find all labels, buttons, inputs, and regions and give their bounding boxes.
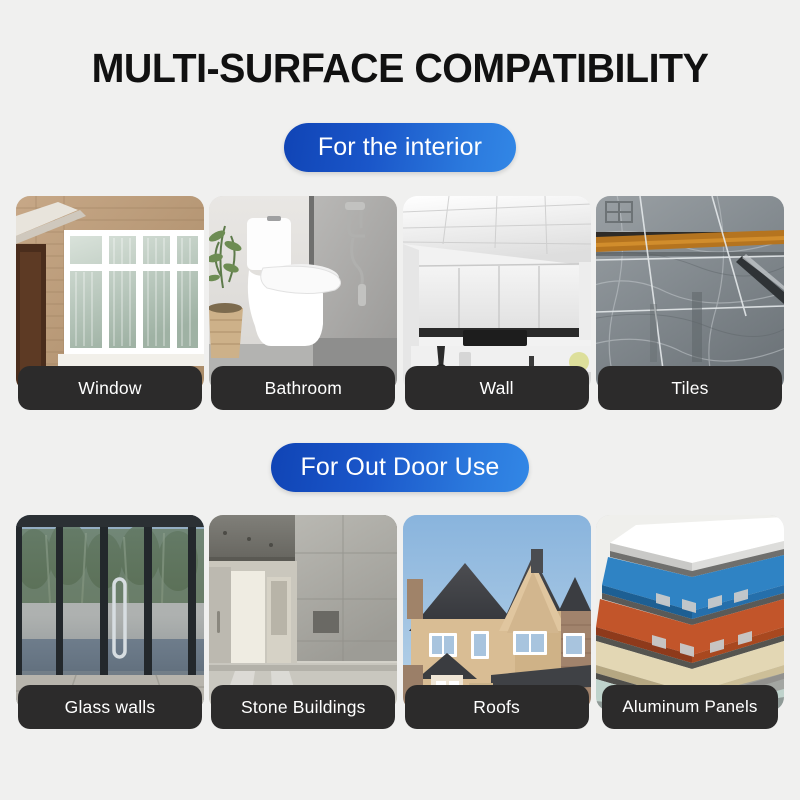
card-caption-stone-buildings: Stone Buildings — [211, 685, 395, 729]
tiles-photo — [596, 196, 784, 392]
roofs-photo — [403, 515, 591, 711]
card-caption-tiles: Tiles — [598, 366, 782, 410]
outdoor-banner-pill: For Out Door Use — [271, 443, 530, 492]
interior-banner-pill: For the interior — [284, 123, 516, 172]
bathroom-photo — [209, 196, 397, 392]
card-caption-aluminum-panels: Aluminum Panels — [602, 685, 778, 729]
outdoor-banner-row: For Out Door Use — [0, 443, 800, 492]
surface-card-wall[interactable]: Wall — [403, 196, 591, 392]
surface-card-tiles[interactable]: Tiles — [596, 196, 784, 392]
aluminum-panels-photo — [596, 515, 784, 711]
surface-card-roofs[interactable]: Roofs — [403, 515, 591, 711]
card-caption-bathroom: Bathroom — [211, 366, 395, 410]
glass-walls-photo — [16, 515, 204, 711]
surface-card-stone-buildings[interactable]: Stone Buildings — [209, 515, 397, 711]
surface-card-aluminum-panels[interactable]: Aluminum Panels — [596, 515, 784, 711]
card-caption-wall: Wall — [405, 366, 589, 410]
card-caption-roofs: Roofs — [405, 685, 589, 729]
interior-banner-row: For the interior — [0, 123, 800, 172]
surface-card-bathroom[interactable]: Bathroom — [209, 196, 397, 392]
card-caption-glass-walls: Glass walls — [18, 685, 202, 729]
window-photo — [16, 196, 204, 392]
wall-photo — [403, 196, 591, 392]
card-caption-window: Window — [18, 366, 202, 410]
interior-card-grid: Window — [0, 196, 800, 392]
surface-card-window[interactable]: Window — [16, 196, 204, 392]
surface-card-glass-walls[interactable]: Glass walls — [16, 515, 204, 711]
stone-buildings-photo — [209, 515, 397, 711]
outdoor-card-grid: Glass walls — [0, 515, 800, 711]
page-title: MULTI-SURFACE COMPATIBILITY — [16, 0, 784, 90]
